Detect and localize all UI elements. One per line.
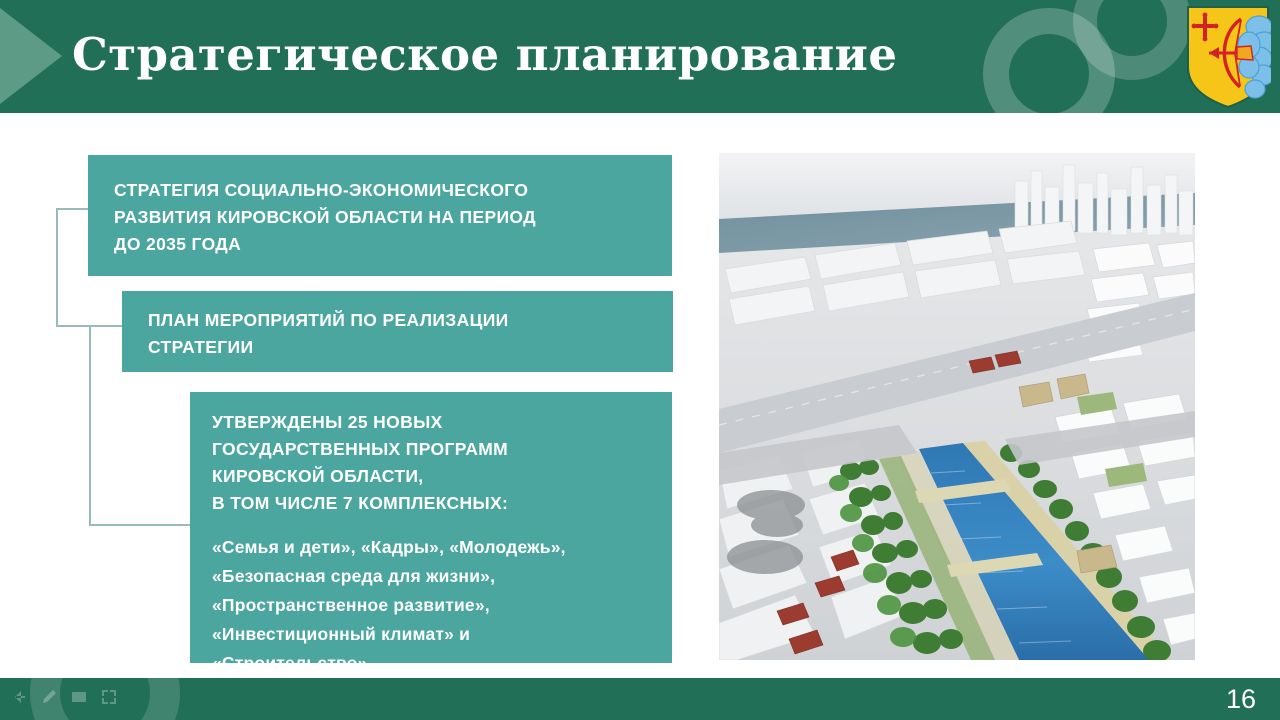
pen-icon[interactable] [40, 688, 58, 706]
slide-header: Стратегическое планирование [0, 0, 1280, 113]
programs-box-heading: УТВЕРЖДЕНЫ 25 НОВЫХ ГОСУДАРСТВЕННЫХ ПРОГ… [212, 409, 650, 517]
slide-footer: 16 [0, 678, 1280, 720]
strategy-box: СТРАТЕГИЯ СОЦИАЛЬНО-ЭКОНОМИЧЕСКОГО РАЗВИ… [88, 155, 672, 276]
connector-line-vertical-top [56, 208, 58, 327]
back-arrow-icon[interactable] [10, 688, 28, 706]
kirov-oblast-coat-of-arms-icon [1185, 5, 1271, 109]
page-title: Стратегическое планирование [72, 24, 1112, 86]
programs-box-list: «Семья и дети», «Кадры», «Молодежь», «Бе… [212, 533, 650, 678]
connector-line-vertical-bottom [89, 325, 91, 526]
connector-line-to-strategy [56, 208, 90, 210]
programs-box: УТВЕРЖДЕНЫ 25 НОВЫХ ГОСУДАРСТВЕННЫХ ПРОГ… [190, 392, 672, 663]
fullscreen-icon[interactable] [100, 688, 118, 706]
action-plan-box: ПЛАН МЕРОПРИЯТИЙ ПО РЕАЛИЗАЦИИ СТРАТЕГИИ [122, 291, 673, 372]
header-arrow-icon [0, 8, 62, 104]
slideshow-icon[interactable] [70, 688, 88, 706]
connector-line-to-programs [89, 524, 192, 526]
presentation-slide: Стратегическое планирование [0, 0, 1280, 720]
strategy-box-heading: СТРАТЕГИЯ СОЦИАЛЬНО-ЭКОНОМИЧЕСКОГО РАЗВИ… [114, 177, 646, 258]
action-plan-box-heading: ПЛАН МЕРОПРИЯТИЙ ПО РЕАЛИЗАЦИИ СТРАТЕГИИ [148, 307, 647, 361]
urban-masterplan-render [719, 153, 1195, 660]
presentation-toolbar[interactable] [10, 688, 118, 706]
page-number: 16 [1226, 683, 1256, 715]
